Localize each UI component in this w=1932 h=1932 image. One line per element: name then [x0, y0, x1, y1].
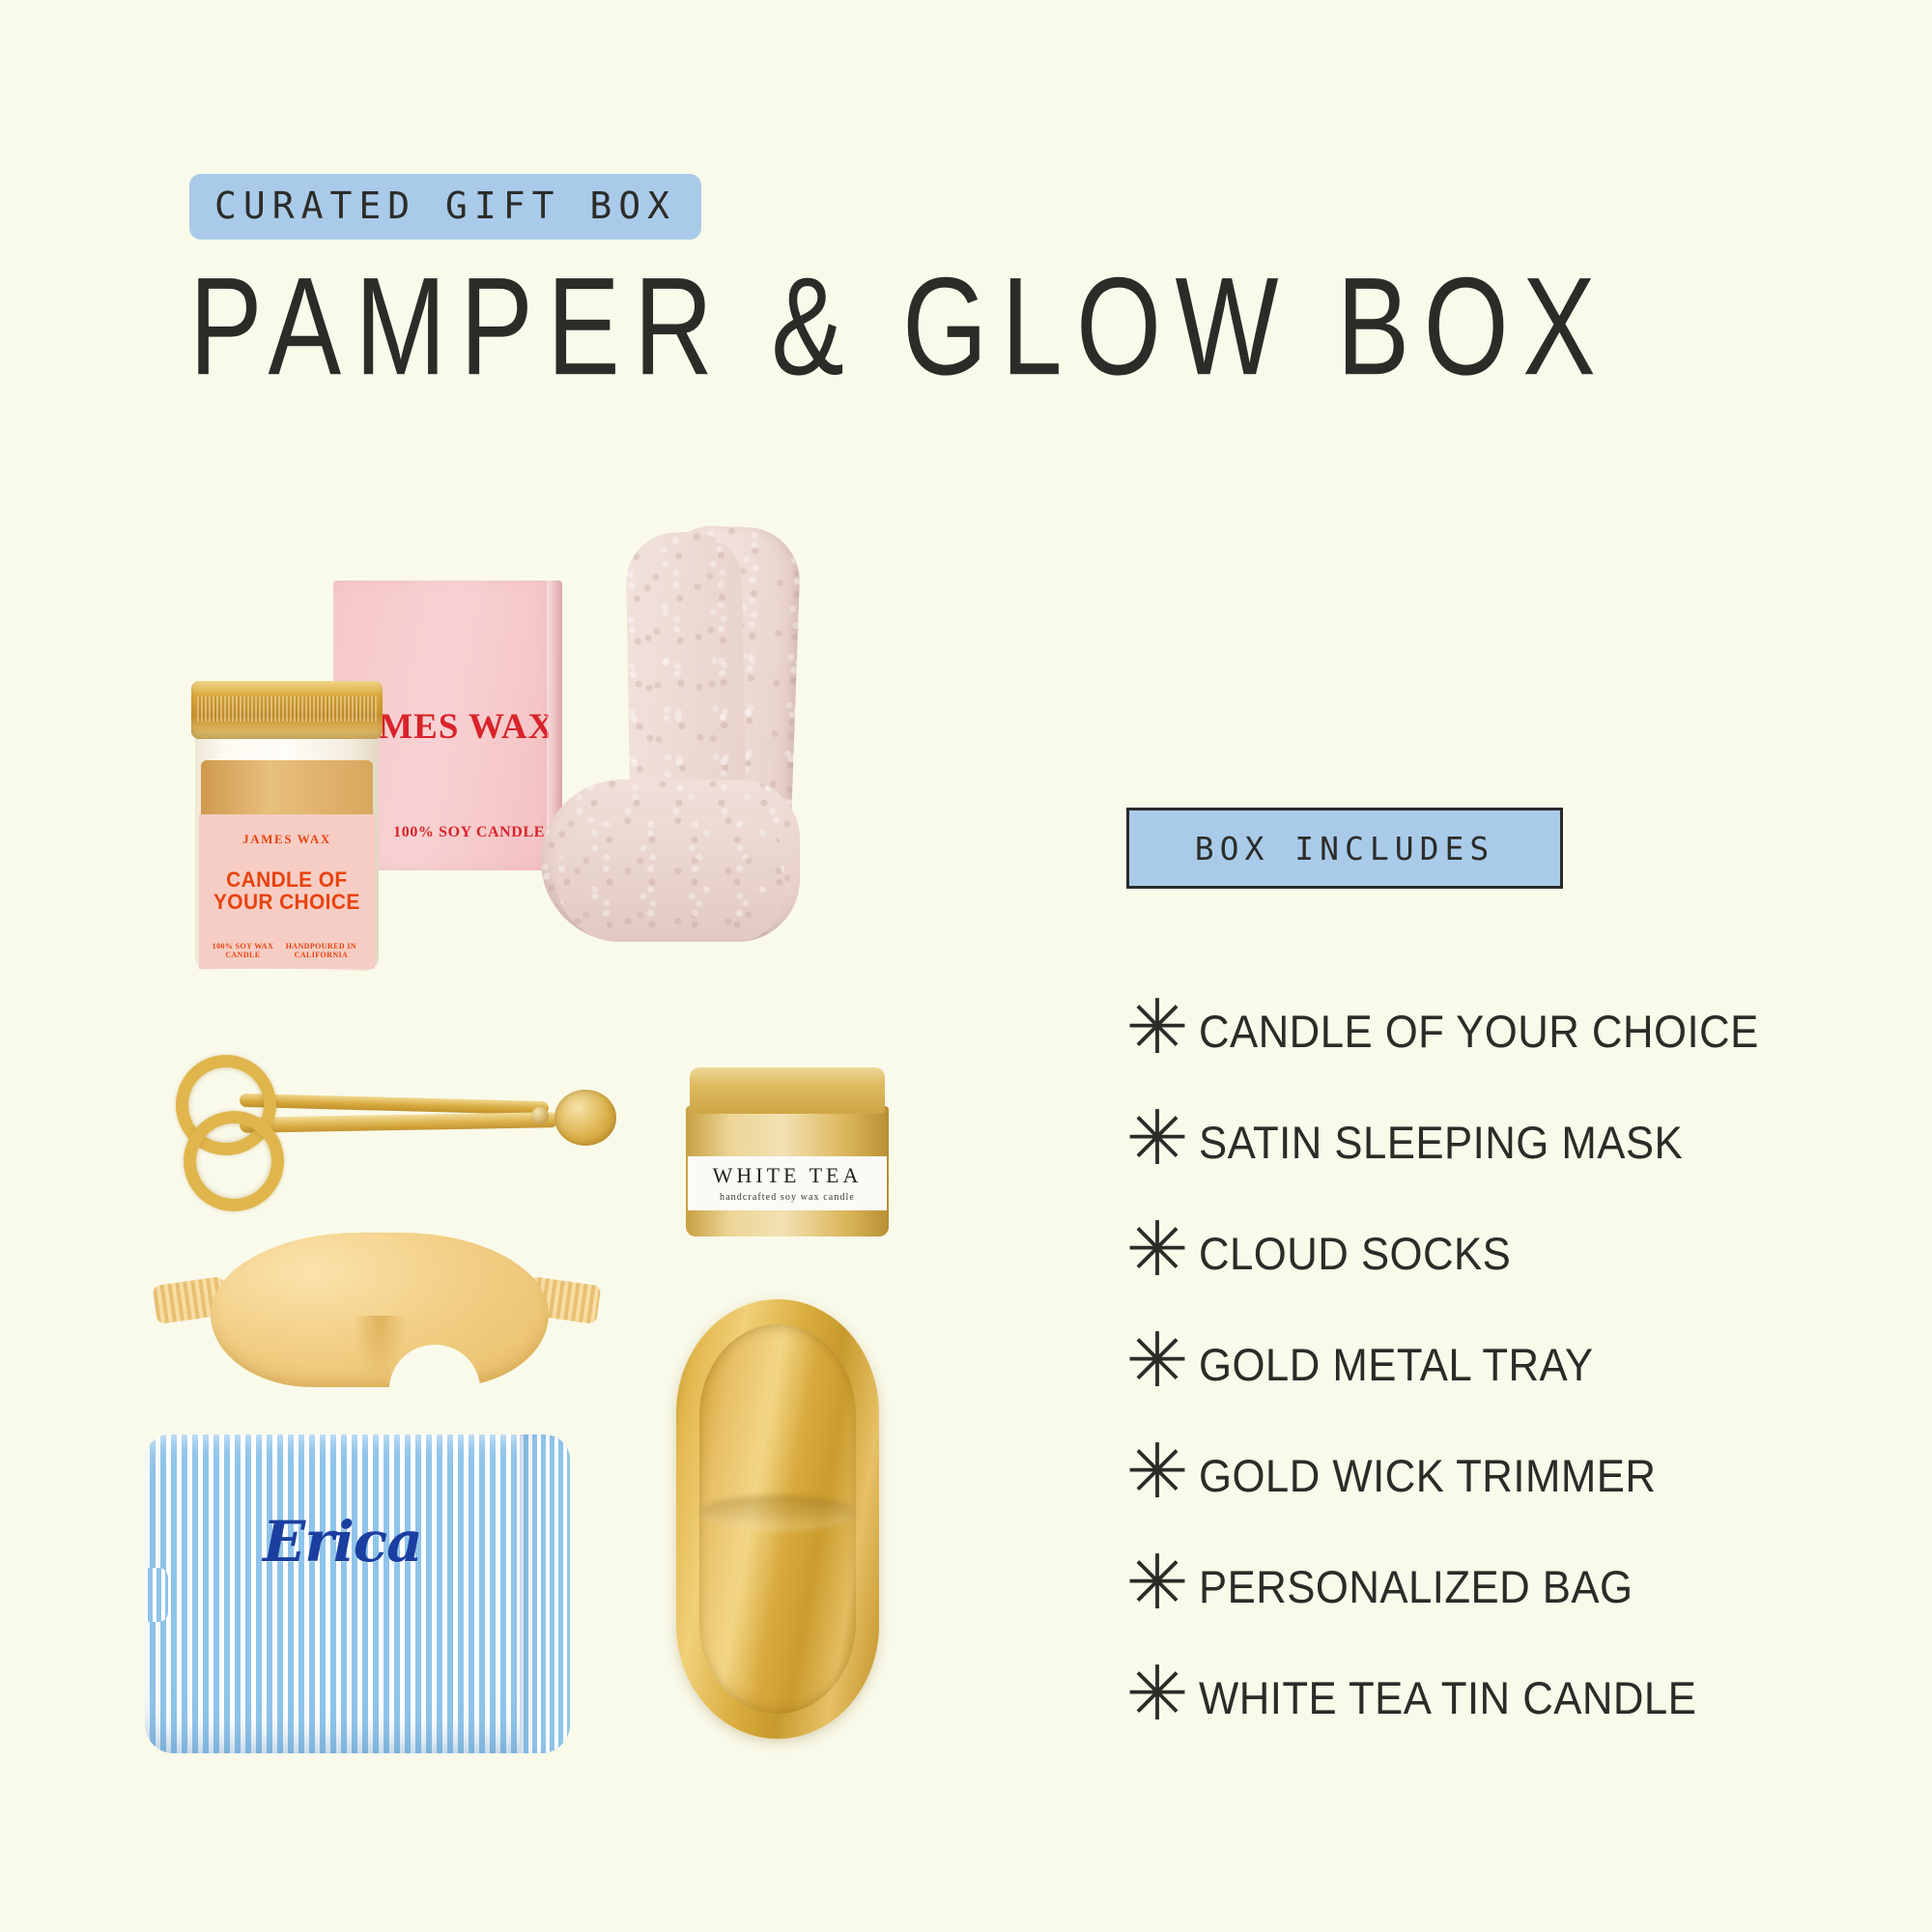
sock-foot-front [556, 816, 784, 942]
white-tea-tin-candle: WHITE TEA handcrafted soy wax candle [686, 1067, 889, 1236]
satin-sleeping-mask [155, 1229, 599, 1399]
list-item-label: CANDLE OF YOUR CHOICE [1199, 1005, 1759, 1058]
bag-zipper-panel [520, 1435, 570, 1753]
trimmer-arm-upper [240, 1094, 549, 1115]
trimmer-arm-lower [240, 1112, 558, 1133]
trimmer-head [554, 1090, 616, 1146]
list-item-label: PERSONALIZED BAG [1199, 1560, 1634, 1613]
box-includes-label: BOX INCLUDES [1195, 833, 1494, 865]
eyebrow-label: CURATED GIFT BOX [214, 185, 676, 227]
box-includes-list: ✳CANDLE OF YOUR CHOICE✳SATIN SLEEPING MA… [1116, 976, 1879, 1753]
asterisk-bullet-icon: ✳ [1116, 1435, 1199, 1510]
gift-box-graphic: CURATED GIFT BOX PAMPER & GLOW BOX JAMES… [0, 0, 1932, 1932]
cloud-socks [541, 526, 811, 1029]
asterisk-bullet-icon: ✳ [1116, 1212, 1199, 1288]
jar-title-line2: YOUR CHOICE [213, 891, 360, 913]
jar-footer-left: 100% SOY WAX CANDLE [209, 942, 277, 959]
jar-footer-right: HANDPOURED IN CALIFORNIA [277, 942, 365, 959]
jar-glass: JAMES WAX CANDLE OF YOUR CHOICE 100% SOY… [195, 718, 379, 971]
box-includes-heading: BOX INCLUDES [1126, 808, 1563, 889]
jar-label: JAMES WAX CANDLE OF YOUR CHOICE 100% SOY… [199, 814, 375, 969]
personalized-bag: Erica [145, 1435, 570, 1753]
tin-name: WHITE TEA [713, 1165, 863, 1186]
list-item: ✳GOLD METAL TRAY [1116, 1309, 1879, 1420]
tin-subtitle: handcrafted soy wax candle [720, 1193, 855, 1203]
jar-footer: 100% SOY WAX CANDLE HANDPOURED IN CALIFO… [209, 942, 365, 959]
list-item-label: GOLD METAL TRAY [1199, 1338, 1594, 1391]
list-item-label: WHITE TEA TIN CANDLE [1199, 1671, 1696, 1724]
list-item: ✳PERSONALIZED BAG [1116, 1531, 1879, 1642]
asterisk-bullet-icon: ✳ [1116, 1657, 1199, 1732]
list-item-label: CLOUD SOCKS [1199, 1227, 1511, 1280]
tin-lid [690, 1067, 885, 1114]
list-item: ✳WHITE TEA TIN CANDLE [1116, 1642, 1879, 1753]
list-item: ✳CLOUD SOCKS [1116, 1198, 1879, 1309]
tin-label: WHITE TEA handcrafted soy wax candle [688, 1156, 887, 1210]
mask-body [211, 1233, 549, 1387]
tray-well [699, 1324, 856, 1714]
jar-title: CANDLE OF YOUR CHOICE [213, 868, 360, 913]
jar-title-line1: CANDLE OF [213, 868, 360, 891]
page-title: PAMPER & GLOW BOX [189, 255, 1609, 401]
gold-metal-tray [676, 1299, 879, 1739]
mask-nose-notch [389, 1345, 480, 1389]
list-item-label: GOLD WICK TRIMMER [1199, 1449, 1656, 1502]
list-item-label: SATIN SLEEPING MASK [1199, 1116, 1683, 1169]
gold-wick-trimmer [172, 1053, 626, 1198]
jar-lid [191, 681, 383, 739]
list-item: ✳CANDLE OF YOUR CHOICE [1116, 976, 1879, 1087]
asterisk-bullet-icon: ✳ [1116, 1101, 1199, 1177]
list-item: ✳SATIN SLEEPING MASK [1116, 1087, 1879, 1198]
asterisk-bullet-icon: ✳ [1116, 1323, 1199, 1399]
eyebrow-badge: CURATED GIFT BOX [189, 174, 701, 240]
bag-monogram: Erica [263, 1514, 422, 1570]
jar-brand: JAMES WAX [242, 832, 331, 847]
tray-reflection [699, 1495, 856, 1530]
list-item: ✳GOLD WICK TRIMMER [1116, 1420, 1879, 1531]
asterisk-bullet-icon: ✳ [1116, 990, 1199, 1065]
asterisk-bullet-icon: ✳ [1116, 1546, 1199, 1621]
candle-jar: JAMES WAX CANDLE OF YOUR CHOICE 100% SOY… [195, 681, 379, 971]
bag-zipper-pull [145, 1568, 168, 1622]
trimmer-pivot [531, 1107, 549, 1124]
